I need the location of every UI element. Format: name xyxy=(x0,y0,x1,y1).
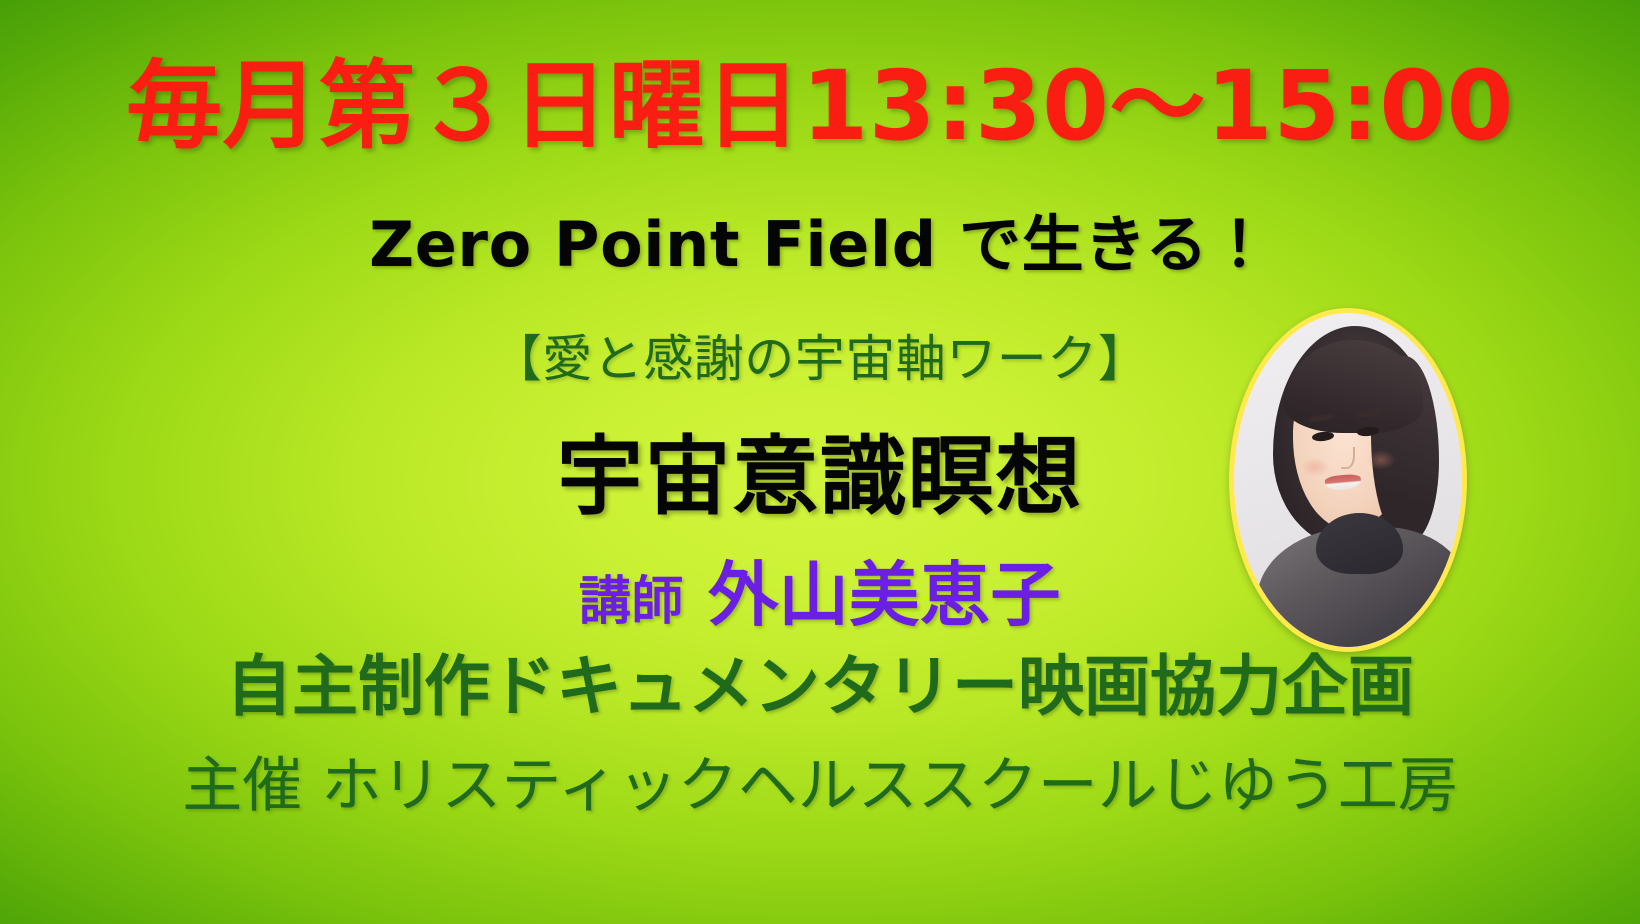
portrait-nose xyxy=(1341,447,1354,469)
portrait-blush-left xyxy=(1300,457,1330,477)
schedule-headline: 毎月第３日曜日13:30〜15:00 xyxy=(0,58,1640,154)
portrait-collar xyxy=(1316,513,1403,573)
presenter-name: 外山美恵子 xyxy=(708,554,1061,636)
organizer-note: 主催 ホリスティックヘルススクールじゆう工房 xyxy=(0,756,1640,816)
avatar xyxy=(1234,313,1462,647)
event-flyer: 毎月第３日曜日13:30〜15:00 Zero Point Field で生きる… xyxy=(0,0,1640,924)
portrait-blush-right xyxy=(1366,450,1396,470)
presenter-portrait xyxy=(1229,308,1467,652)
presenter-role-label: 講師 xyxy=(579,572,684,632)
event-subtitle: Zero Point Field で生きる！ xyxy=(0,214,1640,276)
collaboration-note: 自主制作ドキュメンタリー映画協力企画 xyxy=(0,654,1640,720)
